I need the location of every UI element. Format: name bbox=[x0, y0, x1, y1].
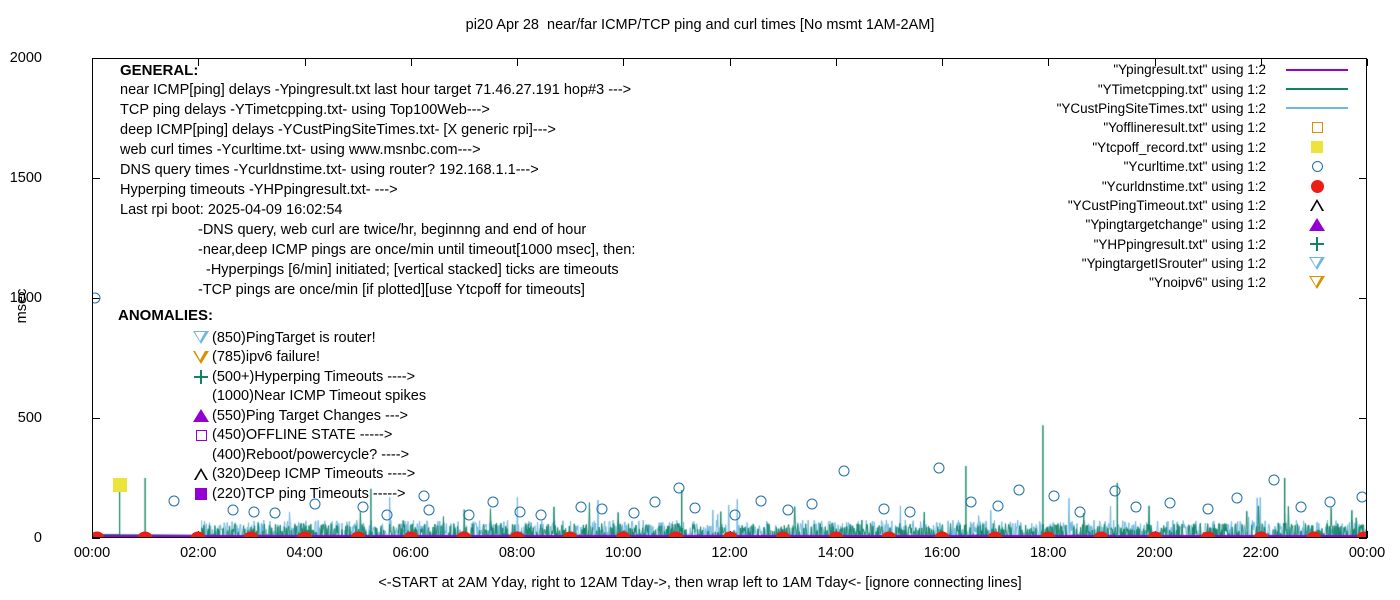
chart-title: pi20 Apr 28 near/far ICMP/TCP ping and c… bbox=[0, 18, 1400, 33]
legend-item-label: "Ytcpoff_record.txt" using 1:2 bbox=[1092, 140, 1266, 155]
x-tick-label: 16:00 bbox=[924, 545, 960, 561]
anomaly-item: (400)Reboot/powercycle? ----> bbox=[118, 445, 426, 465]
x-tick-label: 10:00 bbox=[605, 545, 641, 561]
x-tick-label: 00:00 bbox=[1349, 545, 1385, 561]
y-tick-label: 2000 bbox=[0, 50, 42, 66]
legend-item-label: "YCustPingTimeout.txt" using 1:2 bbox=[1068, 198, 1266, 213]
anomaly-item: (320)Deep ICMP Timeouts ----> bbox=[118, 465, 426, 485]
y-tick-label: 500 bbox=[0, 410, 42, 426]
anomaly-label: (450)OFFLINE STATE -----> bbox=[212, 427, 392, 443]
x-tick-label: 12:00 bbox=[711, 545, 747, 561]
square-filled-icon bbox=[1311, 141, 1323, 153]
dtriangle-open-icon bbox=[193, 351, 209, 364]
anomaly-symbol bbox=[190, 468, 212, 480]
triangle-filled-icon bbox=[1309, 218, 1325, 231]
x-tick-label: 04:00 bbox=[286, 545, 322, 561]
general-note: -near,deep ICMP pings are once/min until… bbox=[120, 242, 635, 262]
legend-item-label: "YHPpingresult.txt" using 1:2 bbox=[1094, 237, 1266, 252]
anomaly-item: (785)ipv6 failure! bbox=[118, 348, 426, 368]
legend-item-label: "YpingtargetISrouter" using 1:2 bbox=[1082, 256, 1266, 271]
general-line: near ICMP[ping] delays -Ypingresult.txt … bbox=[120, 82, 635, 102]
x-tick-label: 08:00 bbox=[499, 545, 535, 561]
general-line: TCP ping delays -YTimetcpping.txt- using… bbox=[120, 102, 635, 122]
anomaly-label: (1000)Near ICMP Timeout spikes bbox=[212, 388, 426, 404]
legend-item[interactable]: "Yofflineresult.txt" using 1:2 bbox=[960, 118, 1360, 137]
general-line: web curl times -Ycurltime.txt- using www… bbox=[120, 142, 635, 162]
legend-item[interactable]: "YHPpingresult.txt" using 1:2 bbox=[960, 235, 1360, 254]
legend-item[interactable]: "Ypingtargetchange" using 1:2 bbox=[960, 215, 1360, 234]
legend-item-symbol bbox=[1274, 199, 1360, 211]
triangle-filled-icon bbox=[193, 409, 209, 422]
legend-item[interactable]: "YCustPingSiteTimes.txt" using 1:2 bbox=[960, 99, 1360, 118]
anomaly-item: (450)OFFLINE STATE -----> bbox=[118, 426, 426, 446]
legend-line-swatch bbox=[1286, 88, 1348, 90]
legend-item[interactable]: "YTimetcpping.txt" using 1:2 bbox=[960, 79, 1360, 98]
legend-item[interactable]: "YCustPingTimeout.txt" using 1:2 bbox=[960, 196, 1360, 215]
general-note: -DNS query, web curl are twice/hr, begin… bbox=[120, 222, 635, 242]
anomaly-symbol bbox=[190, 488, 212, 500]
legend-item-symbol bbox=[1274, 141, 1360, 153]
legend-item-label: "YCustPingSiteTimes.txt" using 1:2 bbox=[1057, 101, 1266, 116]
general-annotation: GENERAL: near ICMP[ping] delays -Ypingre… bbox=[120, 62, 635, 302]
x-axis-caption: <-START at 2AM Yday, right to 12AM Tday-… bbox=[0, 576, 1400, 591]
anomalies-annotation: ANOMALIES: (850)PingTarget is router!(78… bbox=[118, 307, 426, 504]
anomaly-label: (850)PingTarget is router! bbox=[212, 330, 376, 346]
legend-item-symbol bbox=[1274, 122, 1360, 133]
legend-item[interactable]: "Ypingresult.txt" using 1:2 bbox=[960, 60, 1360, 79]
anomalies-heading: ANOMALIES: bbox=[118, 307, 426, 324]
anomaly-symbol bbox=[190, 430, 212, 441]
legend-item[interactable]: "Ycurldnstime.txt" using 1:2 bbox=[960, 176, 1360, 195]
legend-item-label: "YTimetcpping.txt" using 1:2 bbox=[1098, 82, 1266, 97]
legend-item[interactable]: "Ynoipv6" using 1:2 bbox=[960, 273, 1360, 292]
anomaly-item: (550)Ping Target Changes ---> bbox=[118, 406, 426, 426]
legend-item-symbol bbox=[1274, 218, 1360, 231]
legend-item-symbol bbox=[1274, 69, 1360, 71]
legend-item-symbol bbox=[1274, 161, 1360, 172]
general-note: -Hyperpings [6/min] initiated; [vertical… bbox=[120, 262, 635, 282]
legend-item-label: "Ycurltime.txt" using 1:2 bbox=[1124, 159, 1266, 174]
legend-item-symbol bbox=[1274, 237, 1360, 251]
plus-icon bbox=[194, 370, 208, 384]
triangle-open-icon bbox=[1310, 199, 1324, 211]
anomaly-symbol bbox=[190, 370, 212, 384]
circle-open-icon bbox=[1312, 161, 1323, 172]
anomaly-symbol bbox=[190, 331, 212, 344]
anomaly-label: (785)ipv6 failure! bbox=[212, 349, 320, 365]
y-tick-label: 0 bbox=[0, 530, 42, 546]
y-axis-label: msec bbox=[14, 276, 30, 336]
x-tick-label: 14:00 bbox=[818, 545, 854, 561]
dtriangle-open-icon bbox=[193, 331, 209, 344]
legend-item-label: "Ypingtargetchange" using 1:2 bbox=[1086, 217, 1266, 232]
y-tick-label: 1000 bbox=[0, 290, 42, 306]
anomaly-symbol bbox=[190, 351, 212, 364]
general-line: Hyperping timeouts -YHPpingresult.txt- -… bbox=[120, 182, 635, 202]
anomaly-item: (850)PingTarget is router! bbox=[118, 328, 426, 348]
plus-icon bbox=[1310, 237, 1324, 251]
dtriangle-open-icon bbox=[1309, 276, 1325, 289]
y-tick-mark bbox=[1359, 538, 1367, 539]
legend-item-symbol bbox=[1274, 276, 1360, 289]
general-line: deep ICMP[ping] delays -YCustPingSiteTim… bbox=[120, 122, 635, 142]
legend-item-label: "Ypingresult.txt" using 1:2 bbox=[1113, 62, 1266, 77]
x-tick-label: 02:00 bbox=[180, 545, 216, 561]
triangle-open-icon bbox=[194, 468, 208, 480]
general-line: DNS query times -Ycurldnstime.txt- using… bbox=[120, 162, 635, 182]
general-line: Last rpi boot: 2025-04-09 16:02:54 bbox=[120, 202, 635, 222]
x-tick-label: 20:00 bbox=[1136, 545, 1172, 561]
anomaly-label: (550)Ping Target Changes ---> bbox=[212, 408, 408, 424]
chart-legend: "Ypingresult.txt" using 1:2"YTimetcpping… bbox=[960, 60, 1360, 293]
square-open-icon bbox=[1312, 122, 1323, 133]
circle-filled-icon bbox=[1311, 180, 1324, 193]
anomaly-item: (220)TCP ping Timeouts -----> bbox=[118, 484, 426, 504]
anomaly-label: (320)Deep ICMP Timeouts ----> bbox=[212, 466, 415, 482]
x-tick-mark bbox=[1367, 59, 1368, 66]
dtriangle-open-icon bbox=[1309, 257, 1325, 270]
anomaly-label: (220)TCP ping Timeouts -----> bbox=[212, 486, 406, 502]
anomaly-label: (400)Reboot/powercycle? ----> bbox=[212, 447, 409, 463]
legend-item-label: "Ynoipv6" using 1:2 bbox=[1149, 275, 1266, 290]
legend-item-label: "Yofflineresult.txt" using 1:2 bbox=[1103, 120, 1266, 135]
x-tick-mark bbox=[1367, 531, 1368, 538]
square-filled-icon bbox=[195, 488, 207, 500]
legend-item-label: "Ycurldnstime.txt" using 1:2 bbox=[1102, 179, 1266, 194]
legend-item-symbol bbox=[1274, 88, 1360, 90]
x-tick-label: 06:00 bbox=[393, 545, 429, 561]
anomaly-item: (1000)Near ICMP Timeout spikes bbox=[118, 387, 426, 407]
legend-item[interactable]: "Ytcpoff_record.txt" using 1:2 bbox=[960, 138, 1360, 157]
legend-item-symbol bbox=[1274, 180, 1360, 193]
legend-line-swatch bbox=[1286, 69, 1348, 71]
legend-line-swatch bbox=[1286, 107, 1348, 109]
general-heading: GENERAL: bbox=[120, 62, 635, 79]
y-tick-label: 1500 bbox=[0, 170, 42, 186]
anomaly-item: (500+)Hyperping Timeouts ----> bbox=[118, 367, 426, 387]
anomaly-label: (500+)Hyperping Timeouts ----> bbox=[212, 369, 415, 385]
legend-item-symbol bbox=[1274, 257, 1360, 270]
general-note: -TCP pings are once/min [if plotted][use… bbox=[120, 282, 635, 302]
x-tick-label: 22:00 bbox=[1243, 545, 1279, 561]
y-tick-mark bbox=[92, 538, 100, 539]
legend-item[interactable]: "YpingtargetISrouter" using 1:2 bbox=[960, 254, 1360, 273]
square-open-icon bbox=[196, 430, 207, 441]
anomaly-symbol bbox=[190, 409, 212, 422]
legend-item[interactable]: "Ycurltime.txt" using 1:2 bbox=[960, 157, 1360, 176]
legend-item-symbol bbox=[1274, 107, 1360, 109]
x-tick-label: 18:00 bbox=[1030, 545, 1066, 561]
x-tick-label: 00:00 bbox=[74, 545, 110, 561]
